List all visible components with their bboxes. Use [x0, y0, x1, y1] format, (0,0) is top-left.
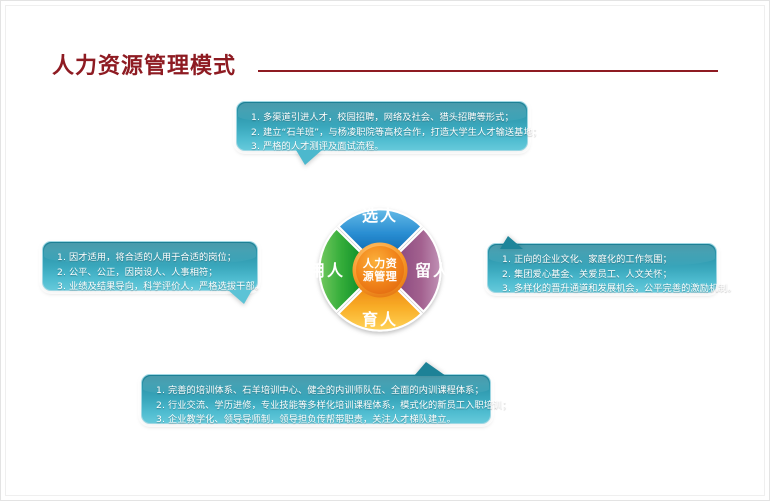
donut-svg: 选人 留人 育人 用人 人力资 源管理 — [285, 183, 475, 355]
page-title: 人力资源管理模式 — [52, 48, 236, 80]
callout-retain-ren[interactable]: 1. 正向的企业文化、家庭化的工作氛围； 2. 集团爱心基金、关爱员工、人文关怀… — [487, 243, 717, 293]
callout-select-line-3: 3. 严格的人才测评及面试流程。 — [251, 140, 515, 155]
callout-select-line-2: 2. 建立“石羊班”，与杨凌职院等高校合作，打造大学生人才输送基地； — [251, 126, 515, 141]
donut-label-retain: 留人 — [415, 261, 451, 280]
callout-select-line-1: 1. 多渠道引进人才，校园招聘，网络及社会、猎头招聘等形式； — [251, 111, 515, 126]
callout-retain-line-3: 3. 多样化的晋升通道和发展机会，公平完善的激励机制。 — [502, 282, 704, 297]
slide-canvas: 人力资源管理模式 1. 多渠道引进人才，校园招聘，网络及社会、猎头招聘等形式； … — [0, 0, 770, 501]
callout-use-line-1: 1. 因才适用，将合适的人用于合适的岗位； — [57, 251, 245, 266]
callout-develop-line-2: 2. 行业交流、学历进修，专业技能等多样化培训课程体系，模式化的新员工入职培训； — [156, 399, 478, 414]
callout-retain-line-2: 2. 集团爱心基金、关爱员工、人文关怀； — [502, 268, 704, 283]
callout-develop-line-3: 3. 企业教学化、领导导师制，领导担负传帮带职责，关注人才梯队建立。 — [156, 413, 478, 428]
callout-select-ren[interactable]: 1. 多渠道引进人才，校园招聘，网络及社会、猎头招聘等形式； 2. 建立“石羊班… — [236, 101, 528, 151]
title-underline-rule — [258, 70, 718, 72]
callout-use-line-2: 2. 公平、公正，因岗设人、人事相符； — [57, 266, 245, 281]
callout-retain-line-1: 1. 正向的企业文化、家庭化的工作氛围； — [502, 253, 704, 268]
callout-develop-line-1: 1. 完善的培训体系、石羊培训中心、健全的内训师队伍、全面的内训课程体系； — [156, 384, 478, 399]
callout-use-line-3: 3. 业绩及结果导向，科学评价人，严格选拔干部。 — [57, 280, 245, 295]
donut-label-develop: 育人 — [362, 310, 398, 329]
callout-use-ren[interactable]: 1. 因才适用，将合适的人用于合适的岗位； 2. 公平、公正，因岗设人、人事相符… — [42, 241, 258, 291]
donut-label-use: 用人 — [309, 261, 345, 280]
donut-center-label-line-1: 人力资 — [363, 256, 398, 270]
hr-cycle-donut-diagram: 选人 留人 育人 用人 人力资 源管理 — [285, 183, 475, 355]
donut-center-label-line-2: 源管理 — [363, 269, 398, 283]
callout-develop-ren[interactable]: 1. 完善的培训体系、石羊培训中心、健全的内训师队伍、全面的内训课程体系； 2.… — [141, 374, 491, 424]
donut-label-select: 选人 — [362, 206, 398, 225]
